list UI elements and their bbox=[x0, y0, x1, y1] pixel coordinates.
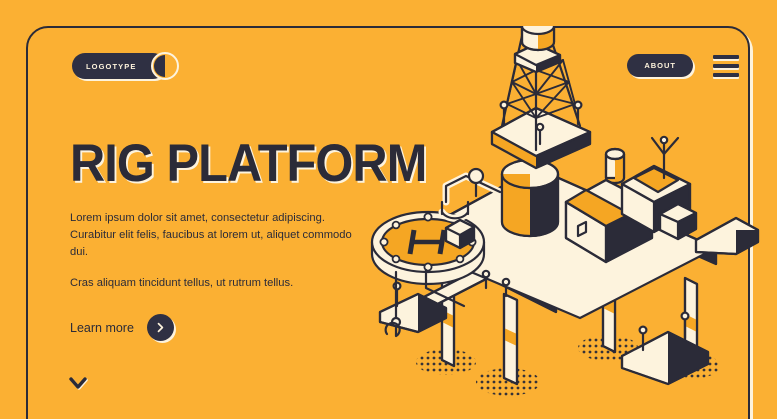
about-button[interactable]: ABOUT bbox=[627, 54, 693, 77]
hero-banner: LOGOTYPE ABOUT RIG PLATFORM Lorem ipsum … bbox=[0, 0, 777, 419]
learn-more-button[interactable]: Learn more bbox=[70, 314, 174, 341]
hamburger-bar bbox=[713, 64, 739, 68]
hero-paragraph-1: Lorem ipsum dolor sit amet, consectetur … bbox=[70, 210, 360, 261]
hamburger-bar bbox=[713, 55, 739, 59]
hero-copy: RIG PLATFORM Lorem ipsum dolor sit amet,… bbox=[70, 136, 390, 341]
hero-paragraph-2: Cras aliquam tincidunt tellus, ut rutrum… bbox=[70, 275, 360, 292]
circle-half-moon-icon bbox=[151, 52, 179, 80]
logo[interactable]: LOGOTYPE bbox=[72, 53, 166, 79]
learn-more-label: Learn more bbox=[70, 321, 134, 335]
page-title: RIG PLATFORM bbox=[70, 136, 364, 192]
scroll-down-chevron-icon[interactable] bbox=[68, 376, 88, 395]
hamburger-bar bbox=[713, 73, 739, 77]
chevron-right-icon bbox=[147, 314, 174, 341]
site-header: LOGOTYPE ABOUT bbox=[0, 0, 777, 110]
logo-text: LOGOTYPE bbox=[86, 62, 136, 71]
hamburger-menu-icon[interactable] bbox=[713, 55, 739, 79]
